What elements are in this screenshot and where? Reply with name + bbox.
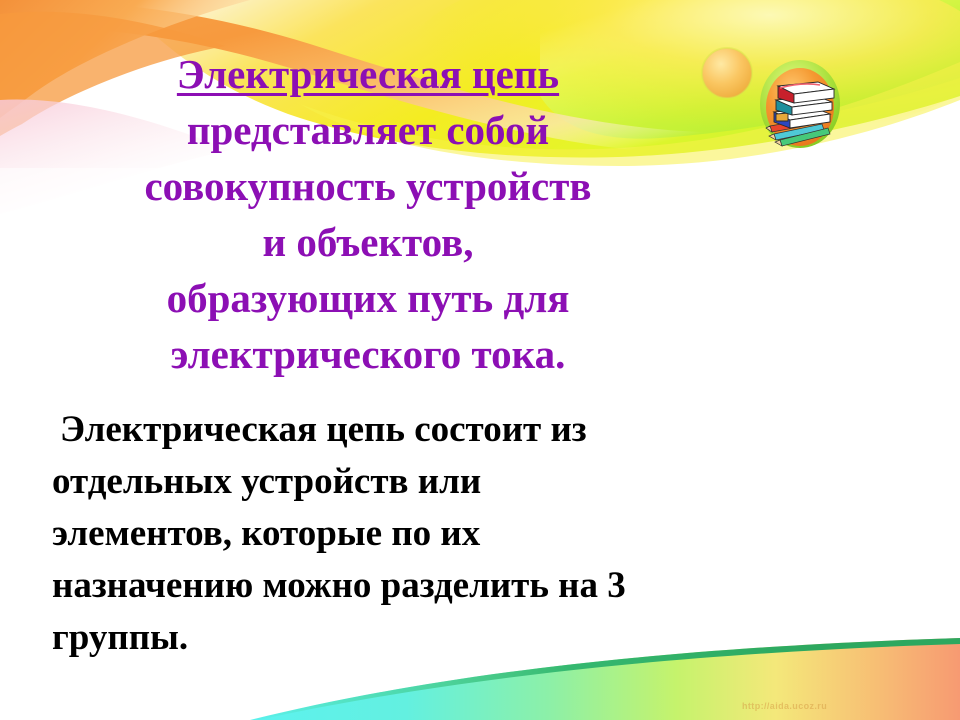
body-line-1: Электрическая цепь состоит из <box>52 404 902 456</box>
body-line-3: элементов, которые по их <box>52 508 902 560</box>
slide-canvas: Электрическая цепь представляет собой со… <box>0 0 960 720</box>
slide-title: Электрическая цепь представляет собой со… <box>14 46 722 382</box>
title-line-2: представляет собой <box>14 102 722 158</box>
body-line-4: назначению можно разделить на 3 <box>52 560 902 612</box>
title-line-6: электрического тока. <box>14 326 722 382</box>
body-line-5: группы. <box>52 612 902 664</box>
slide-body-text: Электрическая цепь состоит из отдельных … <box>52 404 902 664</box>
body-line-2: отдельных устройств или <box>52 456 902 508</box>
title-line-1: Электрическая цепь <box>14 46 722 102</box>
source-watermark: http://aida.ucoz.ru <box>742 701 827 711</box>
title-line-5: образующих путь для <box>14 270 722 326</box>
title-line-3: совокупность устройств <box>14 158 722 214</box>
title-line-4: и объектов, <box>14 214 722 270</box>
